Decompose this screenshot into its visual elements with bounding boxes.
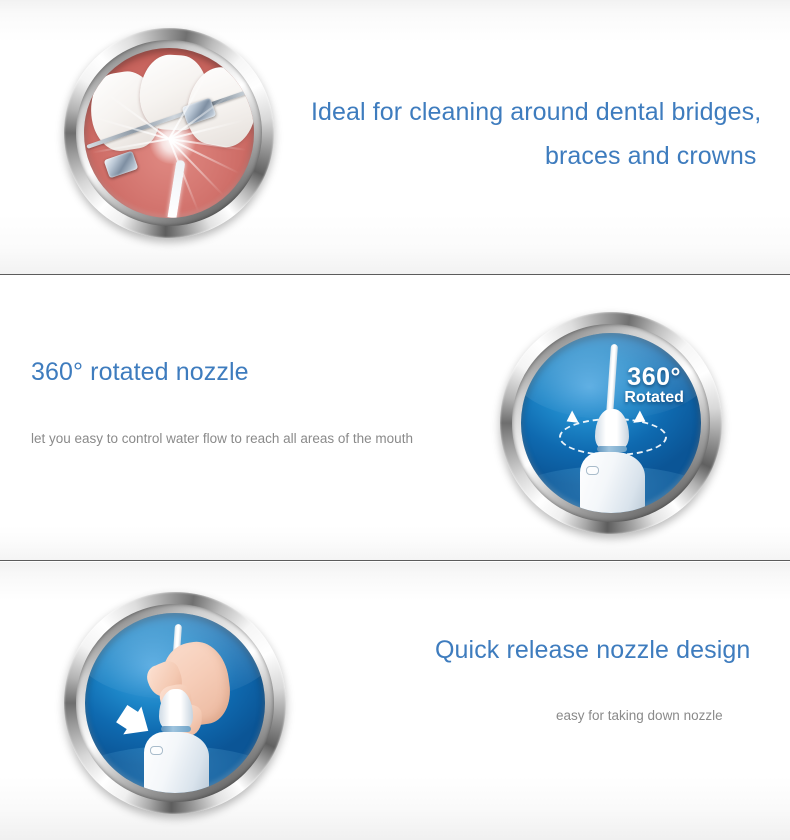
medallion-face: 360° Rotated [521,333,701,513]
arrow-down-icon [116,703,156,746]
nozzle-tip-icon [606,344,618,416]
badge-360-label: Rotated [611,390,697,407]
product-feature-page: Ideal for cleaning around dental bridges… [0,0,790,840]
spray-burst-icon [149,119,197,163]
water-jet-nozzle-icon [168,160,186,218]
medallion-face [85,613,265,793]
medallion-braces-image [64,28,274,238]
medallion-rotated-nozzle-image: 360° Rotated [500,312,722,534]
handle-release-notch-icon [586,466,599,475]
bracket-icon [104,151,139,179]
section-divider [0,274,790,275]
handle-release-notch-icon [150,746,163,755]
headline-rotated-nozzle: 360° rotated nozzle [31,360,249,385]
badge-360-rotated: 360° Rotated [611,364,697,407]
subline-rotated-nozzle: let you easy to control water flow to re… [31,432,413,446]
headline-braces-line2: braces and crowns [545,144,757,169]
medallion-face [84,48,254,218]
section-divider [0,560,790,561]
handle-body-icon [580,452,645,513]
medallion-quick-release-image [64,592,286,814]
subline-quick-release: easy for taking down nozzle [556,709,723,723]
feature-section-braces: Ideal for cleaning around dental bridges… [0,0,790,275]
headline-quick-release: Quick release nozzle design [435,638,750,663]
headline-braces-line1: Ideal for cleaning around dental bridges… [311,100,761,125]
nozzle-cone-icon [595,409,629,449]
